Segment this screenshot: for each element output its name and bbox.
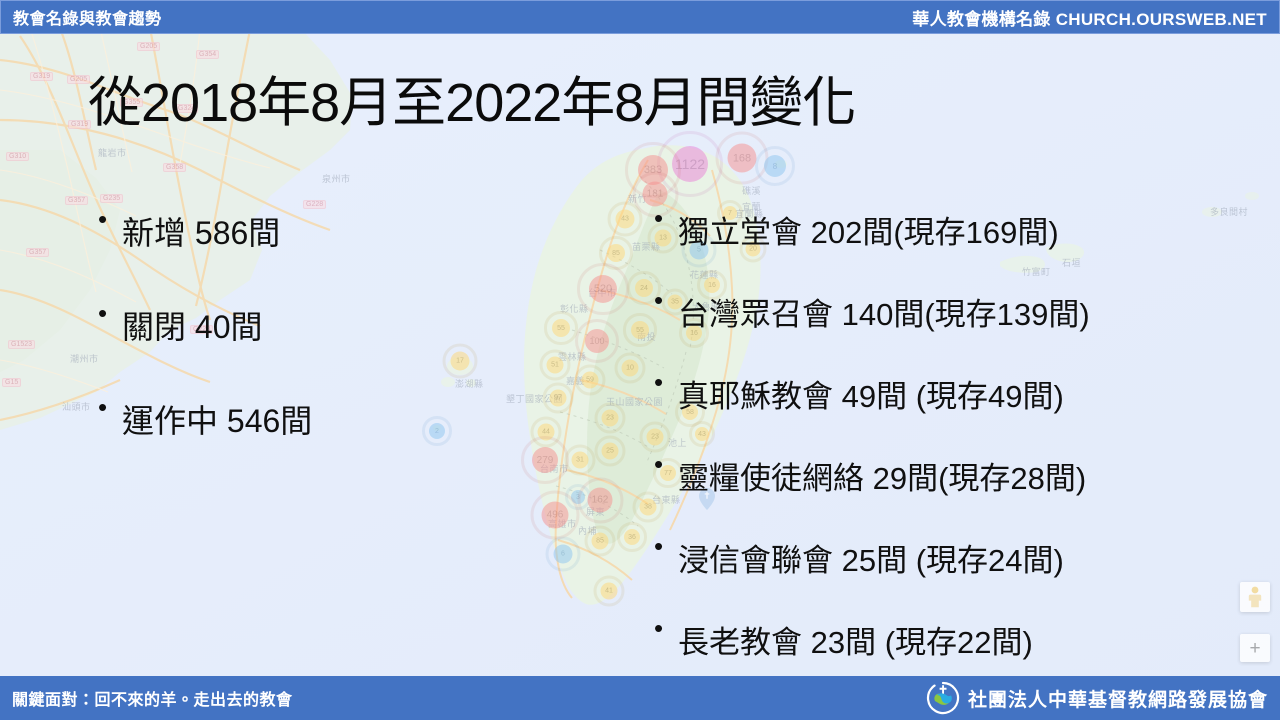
left-bullet-list: 新增 586間關閉 40間運作中 546間 (96, 208, 312, 490)
footer-tagline: 關鍵面對：回不來的羊。走出去的教會 (12, 686, 293, 710)
right-bullet-item-2: 真耶穌教會 49間 (現存49間) (652, 371, 1090, 416)
footer-org-label: 社團法人中華基督教網路發展協會 (968, 685, 1268, 712)
header-title-right: 華人教會機構名錄 CHURCH.OURSWEB.NET (912, 5, 1267, 30)
left-bullet-item-0: 新增 586間 (96, 208, 312, 254)
right-bullet-item-3: 靈糧使徒網絡 29間(現存28間) (652, 453, 1090, 498)
header-title-left: 教會名錄與教會趨勢 (13, 5, 162, 29)
right-bullet-item-1: 台灣眾召會 140間(現存139間) (652, 289, 1090, 334)
slide-content: 從2018年8月至2022年8月間變化 新增 586間關閉 40間運作中 546… (0, 0, 1280, 720)
presentation-slide: 龍岩市泉州市潮州市汕頭市新竹礁溪宜蘭縣苗栗縣台中市彰化縣南投雲林縣嘉義玉山國家公… (0, 0, 1280, 720)
slide-header-bar: 教會名錄與教會趨勢 華人教會機構名錄 CHURCH.OURSWEB.NET (0, 0, 1280, 34)
church-network-logo-icon (926, 681, 960, 715)
footer-organization: 社團法人中華基督教網路發展協會 (926, 681, 1268, 715)
right-bullet-item-4: 浸信會聯會 25間 (現存24間) (652, 535, 1090, 580)
right-bullet-list: 獨立堂會 202間(現存169間)台灣眾召會 140間(現存139間)真耶穌教會… (652, 207, 1090, 699)
right-bullet-item-0: 獨立堂會 202間(現存169間) (652, 207, 1090, 252)
right-bullet-item-5: 長老教會 23間 (現存22間) (652, 617, 1090, 662)
slide-footer-bar: 關鍵面對：回不來的羊。走出去的教會 社團法人中華基督教網路發展協會 (0, 676, 1280, 720)
left-bullet-item-2: 運作中 546間 (96, 396, 312, 442)
left-bullet-item-1: 關閉 40間 (96, 302, 312, 348)
page-title: 從2018年8月至2022年8月間變化 (88, 58, 855, 137)
